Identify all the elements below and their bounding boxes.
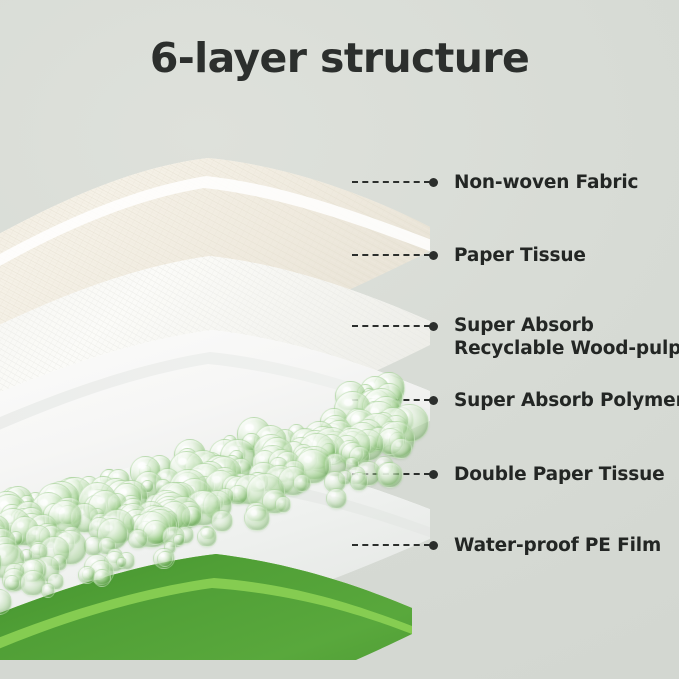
layer-label-double-paper-tissue: Double Paper Tissue <box>454 463 665 486</box>
leader-dot <box>429 396 438 405</box>
leader-line <box>352 181 430 183</box>
leader-dot <box>429 322 438 331</box>
leader-line <box>352 254 430 256</box>
layer-label-pe-film: Water-proof PE Film <box>454 534 661 557</box>
layer-label-non-woven-fabric: Non-woven Fabric <box>454 171 638 194</box>
leader-dot <box>429 178 438 187</box>
layer-stack-illustration <box>0 100 430 660</box>
layer-label-wood-pulp: Super Absorb Recyclable Wood-pulp <box>454 314 679 360</box>
leader-line <box>352 473 430 475</box>
page-title: 6-layer structure <box>0 34 679 82</box>
layer-label-polymer: Super Absorb Polymer <box>454 389 679 412</box>
layer-structure-infographic: 6-layer structure <box>0 0 679 679</box>
leader-line <box>352 399 430 401</box>
layer-label-paper-tissue: Paper Tissue <box>454 244 586 267</box>
leader-dot <box>429 541 438 550</box>
leader-line <box>352 325 430 327</box>
leader-dot <box>429 470 438 479</box>
leader-dot <box>429 251 438 260</box>
leader-line <box>352 544 430 546</box>
